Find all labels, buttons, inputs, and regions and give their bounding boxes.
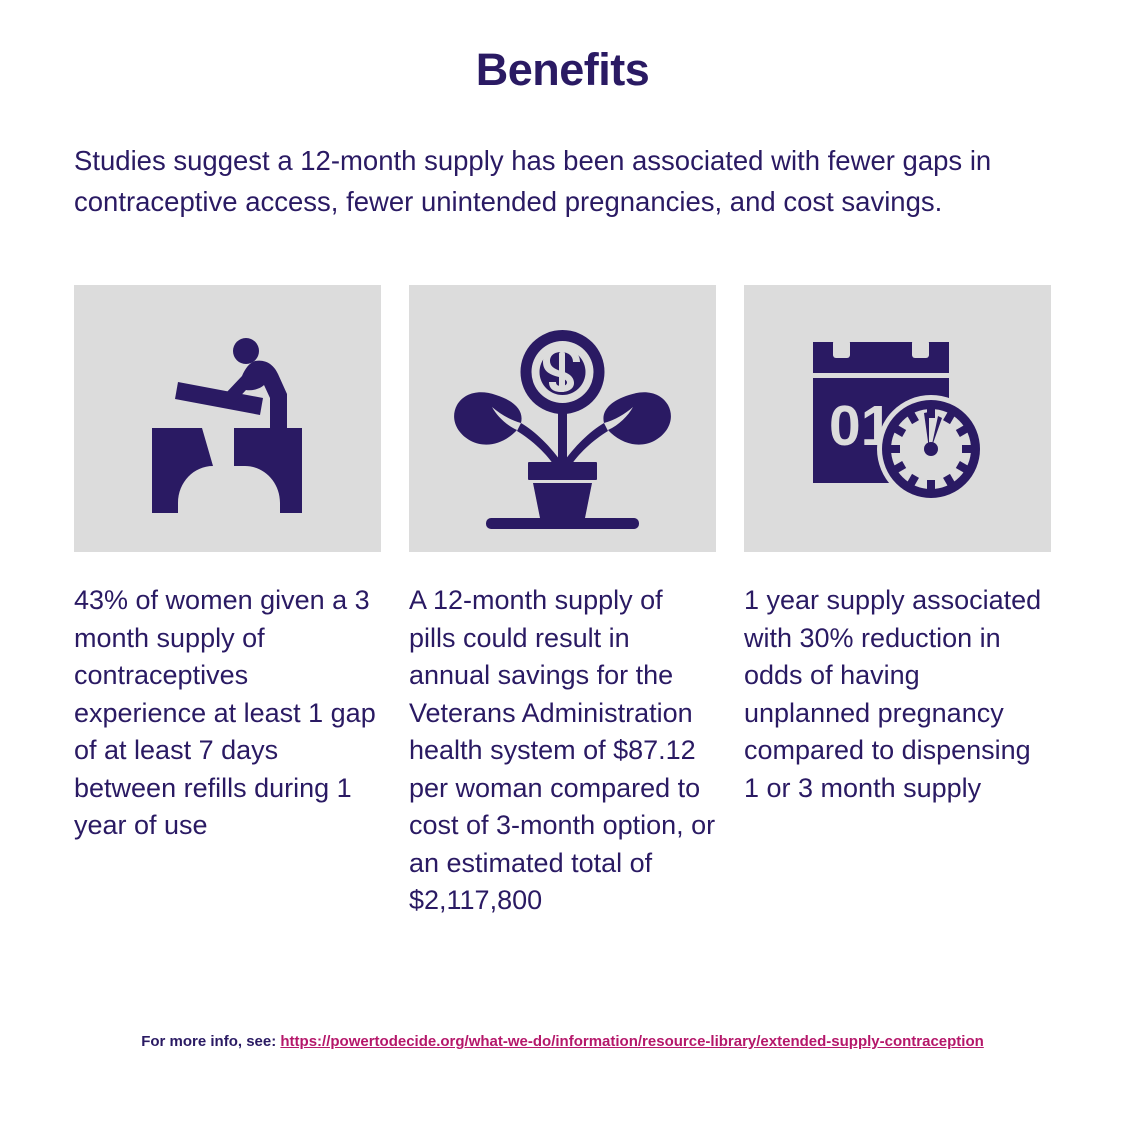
benefit-column-1: 43% of women given a 3 month supply of c… — [74, 285, 381, 920]
icon-box-1 — [74, 285, 381, 552]
person-bridging-gap-icon — [74, 285, 381, 552]
benefit-column-3: 01 — [744, 285, 1051, 920]
infographic-page: Benefits Studies suggest a 12-month supp… — [0, 0, 1125, 1125]
resource-library-link[interactable]: https://powertodecide.org/what-we-do/inf… — [280, 1033, 983, 1050]
footer-prefix: For more info, see: — [141, 1033, 280, 1050]
benefit-text-1: 43% of women given a 3 month supply of c… — [74, 582, 381, 845]
benefit-text-3: 1 year supply associated with 30% reduct… — [744, 582, 1051, 807]
icon-box-3: 01 — [744, 285, 1051, 552]
benefit-text-2: A 12-month supply of pills could result … — [409, 582, 716, 920]
money-plant-growth-icon — [409, 285, 716, 552]
intro-paragraph: Studies suggest a 12-month supply has be… — [74, 140, 1049, 222]
calendar-clock-icon: 01 — [744, 285, 1051, 552]
benefits-columns: 43% of women given a 3 month supply of c… — [74, 285, 1052, 920]
icon-box-2 — [409, 285, 716, 552]
footer-source-line: For more info, see: https://powertodecid… — [0, 1033, 1125, 1050]
page-title: Benefits — [0, 44, 1125, 96]
benefit-column-2: A 12-month supply of pills could result … — [409, 285, 716, 920]
